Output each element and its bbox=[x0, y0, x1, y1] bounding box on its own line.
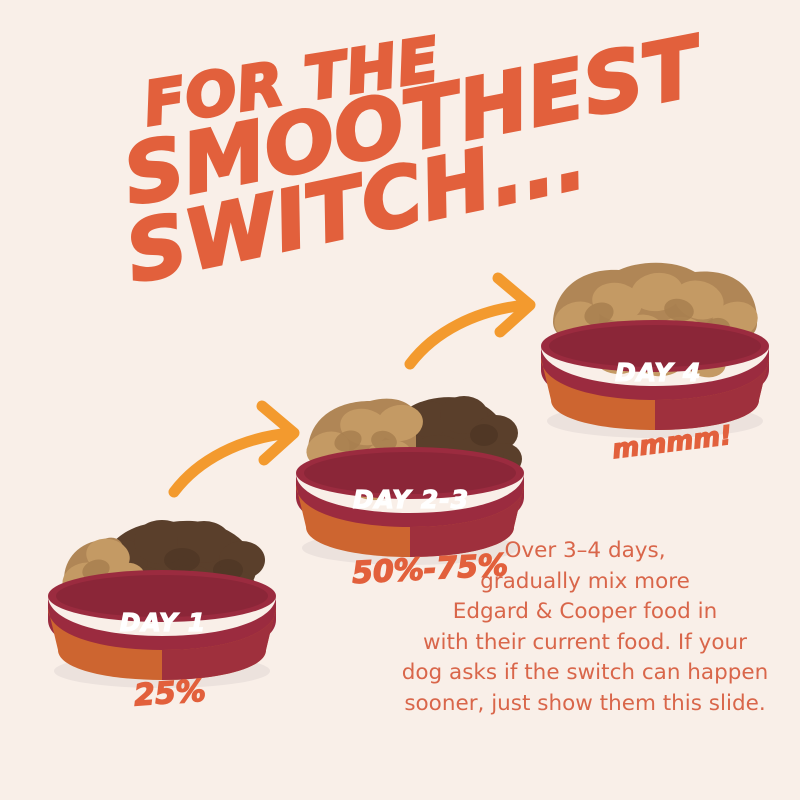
paragraph-line-3: Edgard & Cooper food in bbox=[398, 597, 772, 628]
paragraph-line-5: dog asks if the switch can happen bbox=[398, 658, 772, 689]
infographic-canvas: FOR THE SMOOTHEST SWITCH... bbox=[0, 0, 800, 800]
day-label-day-2-3: DAY 2-3 bbox=[350, 485, 472, 514]
paragraph-line-2: gradually mix more bbox=[398, 567, 772, 598]
arrow-day23-to-day4 bbox=[404, 272, 554, 372]
bowl-day-1: DAY 1 bbox=[40, 508, 284, 698]
paragraph-line-1: Over 3–4 days, bbox=[398, 536, 772, 567]
day-label-day-1: DAY 1 bbox=[118, 608, 208, 637]
day-label-day-4: DAY 4 bbox=[615, 358, 699, 387]
percent-label-day-1: 25% bbox=[133, 674, 207, 714]
description-paragraph: Over 3–4 days, gradually mix more Edgard… bbox=[398, 536, 772, 719]
paragraph-line-4: with their current food. If your bbox=[398, 628, 772, 659]
bowl-day-4: DAY 4 bbox=[533, 258, 777, 448]
paragraph-line-6: sooner, just show them this slide. bbox=[398, 689, 772, 720]
